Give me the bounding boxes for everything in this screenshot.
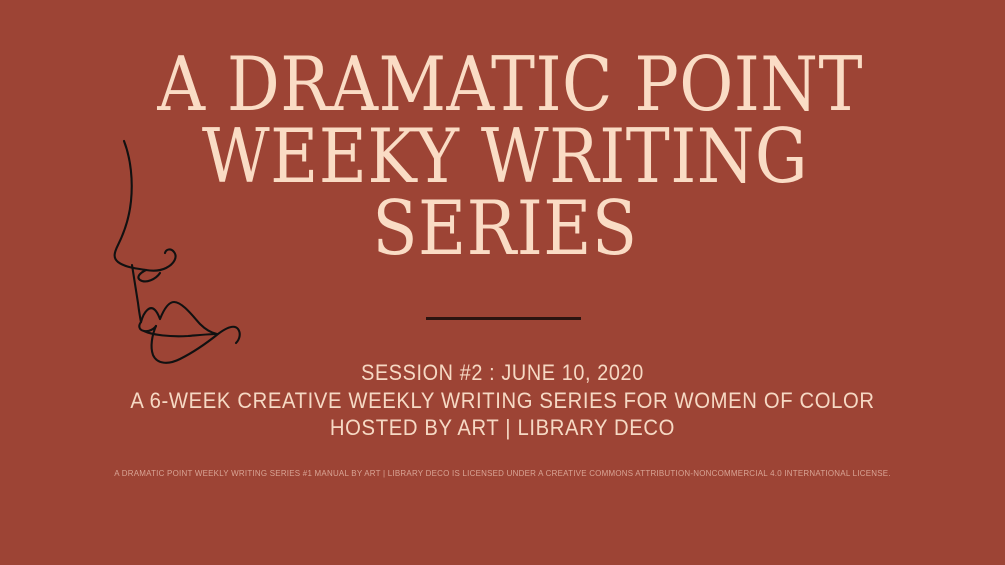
- divider-rule: [426, 317, 581, 320]
- series-description-line: A 6-WEEK CREATIVE WEEKLY WRITING SERIES …: [104, 387, 901, 414]
- session-date-line: SESSION #2 : JUNE 10, 2020: [104, 360, 901, 387]
- page-title: A DRAMATIC POINT WEEKY WRITING SERIES: [110, 48, 900, 264]
- title-line-2: WEEKY WRITING: [157, 120, 852, 192]
- host-line: HOSTED BY ART | LIBRARY DECO: [104, 414, 901, 441]
- title-line-3: SERIES: [157, 192, 852, 264]
- license-footer: A DRAMATIC POINT WEEKLY WRITING SERIES #…: [73, 468, 933, 478]
- title-line-1: A DRAMATIC POINT: [157, 48, 852, 120]
- subtitle-block: SESSION #2 : JUNE 10, 2020 A 6-WEEK CREA…: [60, 360, 945, 442]
- slide-canvas: A DRAMATIC POINT WEEKY WRITING SERIES SE…: [0, 0, 1005, 565]
